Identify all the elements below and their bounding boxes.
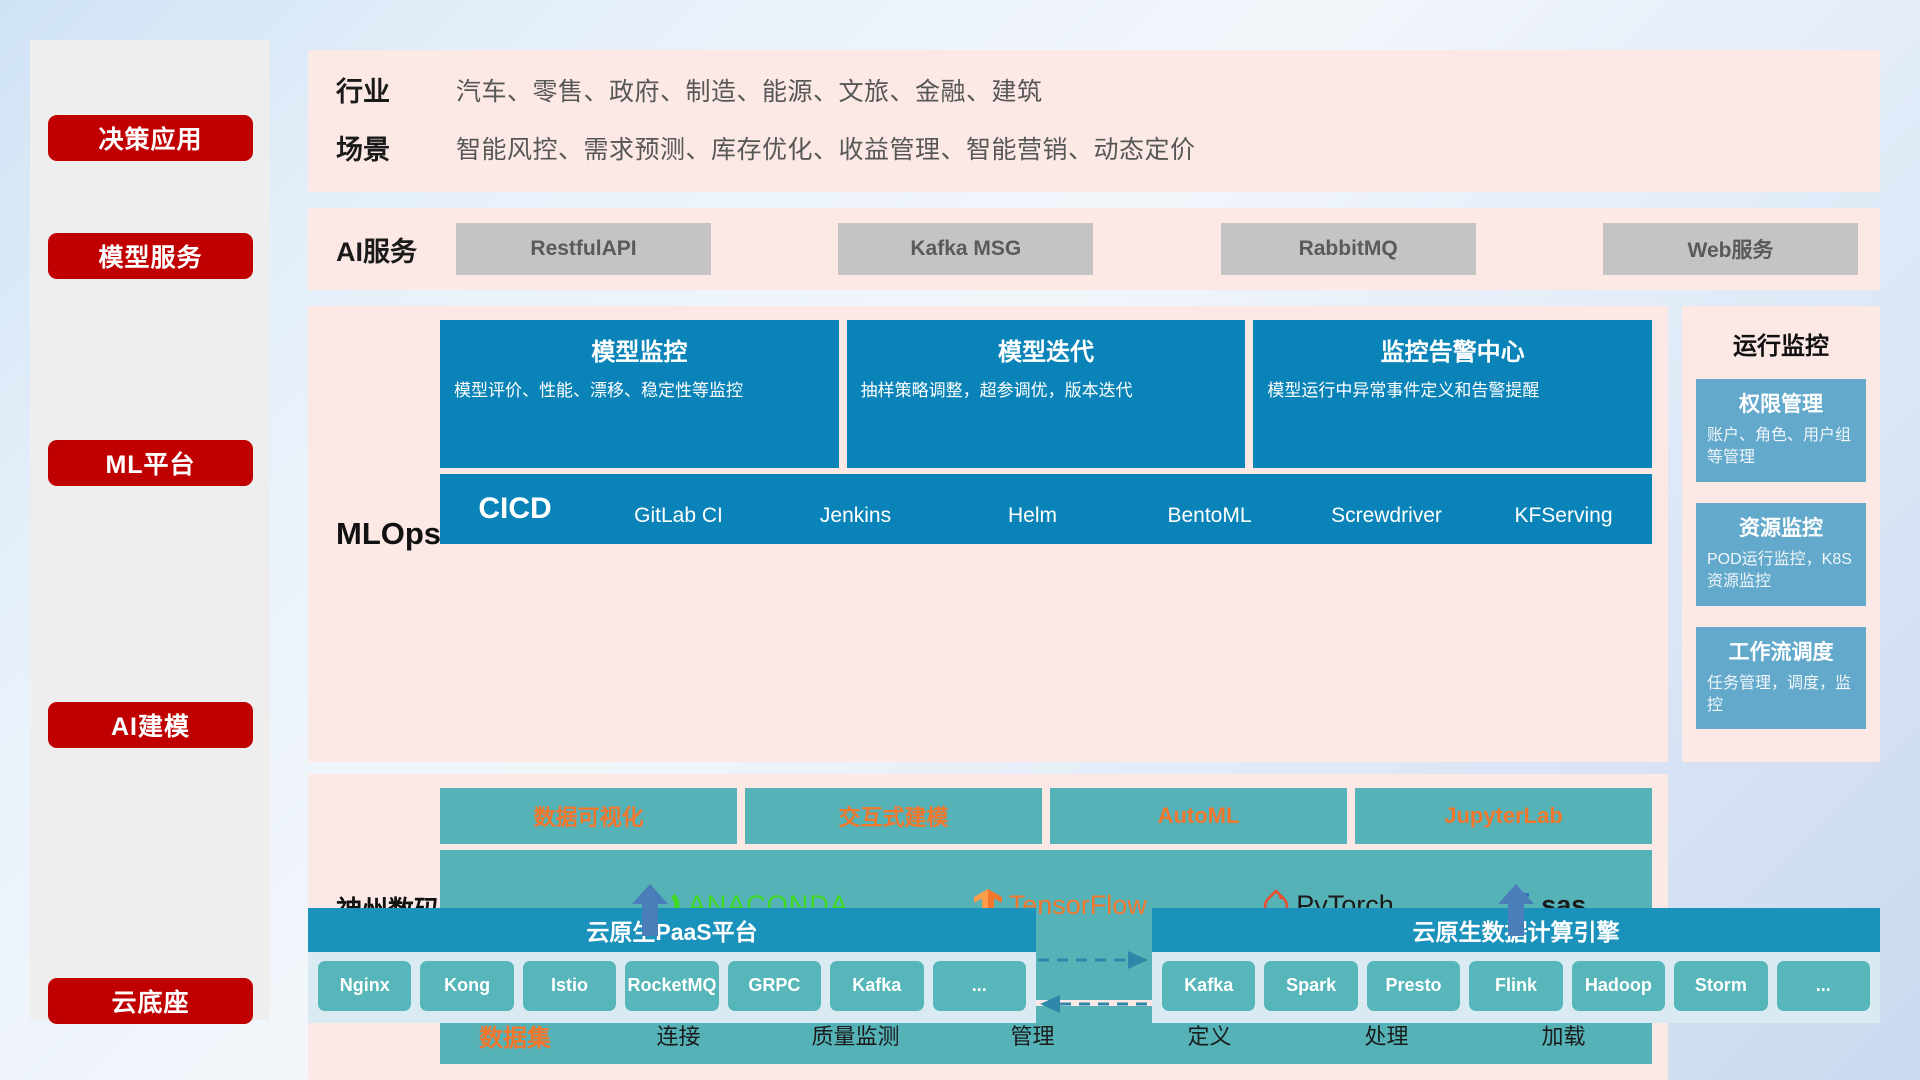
card-title: 模型迭代 <box>861 332 1232 367</box>
tool-jupyterlab[interactable]: JupyterLab <box>1355 788 1652 844</box>
engine-tag-kafka[interactable]: Kafka <box>1162 961 1255 1011</box>
paas-tag-kafka[interactable]: Kafka <box>830 961 923 1011</box>
engine-tag-storm[interactable]: Storm <box>1674 961 1767 1011</box>
ai-service-item-web-service[interactable]: Web服务 <box>1603 223 1858 275</box>
cicd-bar: CICD GitLab CI Jenkins Helm BentoML Scre… <box>440 474 1652 544</box>
monitor-box-title: 资源监控 <box>1707 512 1855 542</box>
tool-automl[interactable]: AutoML <box>1050 788 1347 844</box>
data-engine-up-arrow-icon <box>1496 884 1536 936</box>
paas-tag-grpc[interactable]: GRPC <box>728 961 821 1011</box>
scenario-value: 智能风控、需求预测、库存优化、收益管理、智能营销、动态定价 <box>456 121 1880 179</box>
card-title: 监控告警中心 <box>1267 332 1638 367</box>
bidirectional-connector <box>1036 946 1152 1026</box>
mlops-card-alert-center[interactable]: 监控告警中心 模型运行中异常事件定义和告警提醒 <box>1253 320 1652 468</box>
monitor-box-resource[interactable]: 资源监控 POD运行监控，K8S资源监控 <box>1696 503 1866 606</box>
industry-scenario-band: 行业 场景 汽车、零售、政府、制造、能源、文旅、金融、建筑 智能风控、需求预测、… <box>308 50 1880 192</box>
rail-chip-cloud-foundation[interactable]: 云底座 <box>48 978 253 1024</box>
paas-tag-rocketmq[interactable]: RocketMQ <box>625 961 718 1011</box>
cicd-item-screwdriver[interactable]: Screwdriver <box>1298 501 1475 531</box>
paas-tag-istio[interactable]: Istio <box>523 961 616 1011</box>
cicd-item-kfserving[interactable]: KFServing <box>1475 501 1652 531</box>
ai-service-item-rabbitmq[interactable]: RabbitMQ <box>1221 223 1476 275</box>
card-desc: 抽样策略调整，超参调优，版本迭代 <box>861 379 1232 404</box>
mlops-band: MLOps 模型监控 模型评价、性能、漂移、稳定性等监控 模型迭代 抽样策略调整… <box>308 306 1668 762</box>
industry-value: 汽车、零售、政府、制造、能源、文旅、金融、建筑 <box>456 63 1880 121</box>
card-title: 模型监控 <box>454 332 825 367</box>
engine-tag-flink[interactable]: Flink <box>1469 961 1562 1011</box>
paas-tag-more[interactable]: ... <box>933 961 1026 1011</box>
mlops-content: 模型监控 模型评价、性能、漂移、稳定性等监控 模型迭代 抽样策略调整，超参调优，… <box>440 320 1652 748</box>
runtime-monitor-column: 运行监控 权限管理 账户、角色、用户组等管理 资源监控 POD运行监控，K8S资… <box>1682 306 1880 762</box>
card-desc: 模型评价、性能、漂移、稳定性等监控 <box>454 379 825 404</box>
ai-service-items: RestfulAPI Kafka MSG RabbitMQ Web服务 <box>456 223 1880 275</box>
mlops-label: MLOps <box>336 320 440 748</box>
ml-tools-row: 数据可视化 交互式建模 AutoML JupyterLab <box>440 788 1652 844</box>
engine-tag-hadoop[interactable]: Hadoop <box>1572 961 1665 1011</box>
band-labels: 行业 场景 <box>336 63 456 179</box>
cicd-item-helm[interactable]: Helm <box>944 501 1121 531</box>
left-rail: 决策应用 模型服务 ML平台 AI建模 云底座 <box>30 40 270 1020</box>
scenario-label: 场景 <box>336 121 456 179</box>
engine-tag-more[interactable]: ... <box>1777 961 1870 1011</box>
rail-chip-label: 模型服务 <box>98 238 202 274</box>
rail-chip-ml-platform[interactable]: ML平台 <box>48 440 253 486</box>
monitor-box-desc: 账户、角色、用户组等管理 <box>1707 425 1855 470</box>
engine-tag-presto[interactable]: Presto <box>1367 961 1460 1011</box>
ai-service-band: AI服务 RestfulAPI Kafka MSG RabbitMQ Web服务 <box>308 208 1880 290</box>
rail-chip-decision-app[interactable]: 决策应用 <box>48 115 253 161</box>
cicd-item-jenkins[interactable]: Jenkins <box>767 501 944 531</box>
tool-interactive-modeling[interactable]: 交互式建模 <box>745 788 1042 844</box>
rail-chip-label: 云底座 <box>111 983 189 1019</box>
paas-tag-nginx[interactable]: Nginx <box>318 961 411 1011</box>
ai-service-item-restfulapi[interactable]: RestfulAPI <box>456 223 711 275</box>
monitor-box-title: 工作流调度 <box>1707 636 1855 666</box>
data-engine-tag-tray: Kafka Spark Presto Flink Hadoop Storm ..… <box>1152 952 1880 1023</box>
band-values: 汽车、零售、政府、制造、能源、文旅、金融、建筑 智能风控、需求预测、库存优化、收… <box>456 63 1880 179</box>
tool-data-visualization[interactable]: 数据可视化 <box>440 788 737 844</box>
rail-chip-ai-modeling[interactable]: AI建模 <box>48 702 253 748</box>
rail-chip-label: 决策应用 <box>98 120 202 156</box>
cicd-item-gitlab-ci[interactable]: GitLab CI <box>590 501 767 531</box>
industry-label: 行业 <box>336 63 456 121</box>
engine-tag-spark[interactable]: Spark <box>1264 961 1357 1011</box>
monitor-title: 运行监控 <box>1696 326 1866 361</box>
cicd-item-bentoml[interactable]: BentoML <box>1121 501 1298 531</box>
cicd-label: CICD <box>440 492 590 526</box>
monitor-box-title: 权限管理 <box>1707 388 1855 418</box>
ai-service-item-kafka-msg[interactable]: Kafka MSG <box>838 223 1093 275</box>
mlops-card-model-monitoring[interactable]: 模型监控 模型评价、性能、漂移、稳定性等监控 <box>440 320 839 468</box>
monitor-box-workflow[interactable]: 工作流调度 任务管理，调度，监控 <box>1696 627 1866 730</box>
monitor-box-desc: 任务管理，调度，监控 <box>1707 673 1855 718</box>
paas-tag-tray: Nginx Kong Istio RocketMQ GRPC Kafka ... <box>308 952 1036 1023</box>
paas-platform-column: 云原生PaaS平台 Nginx Kong Istio RocketMQ GRPC… <box>308 908 1036 1023</box>
monitor-box-desc: POD运行监控，K8S资源监控 <box>1707 549 1855 594</box>
rail-chip-model-service[interactable]: 模型服务 <box>48 233 253 279</box>
rail-chip-label: AI建模 <box>111 707 190 743</box>
cloud-foundation-row: 云原生PaaS平台 Nginx Kong Istio RocketMQ GRPC… <box>308 880 1880 1045</box>
mlops-and-monitor-row: MLOps 模型监控 模型评价、性能、漂移、稳定性等监控 模型迭代 抽样策略调整… <box>308 306 1880 762</box>
rail-chip-label: ML平台 <box>105 445 195 481</box>
ai-service-label: AI服务 <box>336 230 456 269</box>
mlops-cards: 模型监控 模型评价、性能、漂移、稳定性等监控 模型迭代 抽样策略调整，超参调优，… <box>440 320 1652 468</box>
paas-tag-kong[interactable]: Kong <box>420 961 513 1011</box>
paas-platform-title: 云原生PaaS平台 <box>308 908 1036 952</box>
paas-up-arrow-icon <box>630 884 670 936</box>
monitor-box-permission[interactable]: 权限管理 账户、角色、用户组等管理 <box>1696 379 1866 482</box>
data-engine-column: 云原生数据计算引擎 Kafka Spark Presto Flink Hadoo… <box>1152 908 1880 1023</box>
card-desc: 模型运行中异常事件定义和告警提醒 <box>1267 379 1638 404</box>
mlops-card-model-iteration[interactable]: 模型迭代 抽样策略调整，超参调优，版本迭代 <box>847 320 1246 468</box>
diagram-canvas: 决策应用 模型服务 ML平台 AI建模 云底座 行业 场景 汽车、零售、政府、制… <box>0 0 1920 1080</box>
cicd-items: GitLab CI Jenkins Helm BentoML Screwdriv… <box>590 487 1652 531</box>
